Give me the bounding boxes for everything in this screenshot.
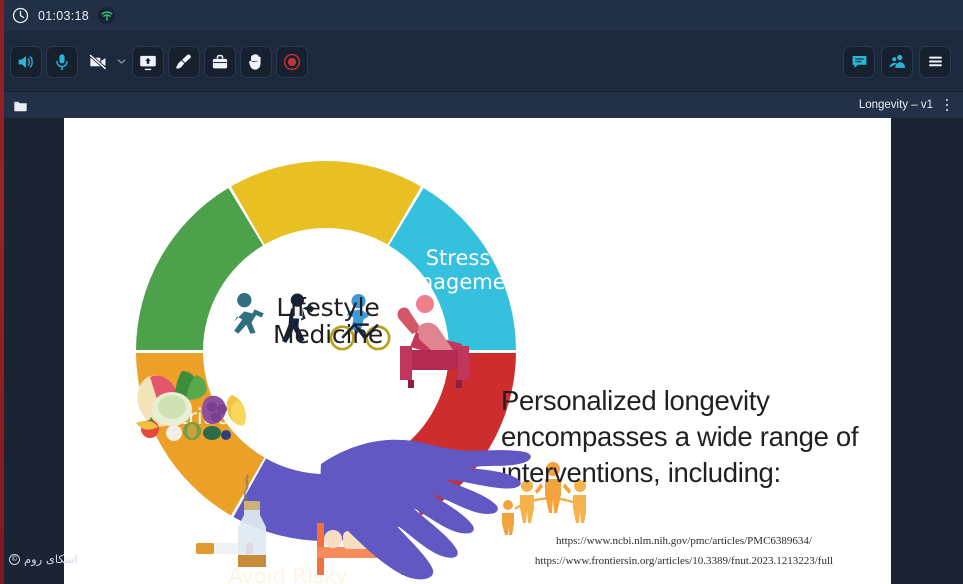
camera-control-group bbox=[82, 46, 128, 78]
chat-button[interactable] bbox=[843, 46, 875, 78]
meeting-toolbar bbox=[0, 31, 963, 92]
clock-icon bbox=[12, 7, 29, 24]
citation-link-1[interactable]: https://www.ncbi.nlm.nih.gov/pmc/article… bbox=[484, 531, 884, 551]
segment-exercise bbox=[231, 161, 421, 244]
app-watermark: اسکای روم © bbox=[9, 552, 78, 566]
segment-label-sleep: Sleep bbox=[435, 577, 493, 584]
slide-body-text: Personalized longevity encompasses a wid… bbox=[501, 383, 876, 490]
kebab-dot bbox=[946, 109, 949, 112]
menu-button[interactable] bbox=[919, 46, 951, 78]
chevron-down-icon[interactable] bbox=[114, 47, 128, 77]
kebab-dot bbox=[946, 104, 949, 107]
briefcase-button[interactable] bbox=[204, 46, 236, 78]
record-button[interactable] bbox=[276, 46, 308, 78]
wheel-center-line1: Lifestyle bbox=[228, 294, 428, 321]
slide-canvas[interactable]: Exercise Stress Management Social Suppor… bbox=[64, 118, 891, 584]
kebab-dot bbox=[946, 99, 949, 102]
share-screen-button[interactable] bbox=[132, 46, 164, 78]
session-timer: 01:03:18 bbox=[38, 9, 89, 23]
toolbar-left-group bbox=[10, 31, 308, 92]
wheel-center-label: Lifestyle Medicine bbox=[228, 294, 428, 348]
more-vertical-icon[interactable] bbox=[940, 95, 954, 115]
camera-off-button[interactable] bbox=[82, 46, 114, 78]
status-bar: 01:03:18 bbox=[0, 0, 963, 31]
presentation-stage: Exercise Stress Management Social Suppor… bbox=[4, 118, 963, 584]
segment-label-exercise: Exercise bbox=[279, 255, 366, 279]
document-tab-bar: Longevity – v1 bbox=[4, 92, 963, 118]
segment-label-stress-management-2: Management bbox=[389, 270, 527, 294]
toolbar-right-group bbox=[843, 31, 951, 92]
participants-button[interactable] bbox=[881, 46, 913, 78]
copyright-icon: © bbox=[9, 554, 20, 565]
citation-link-2[interactable]: https://www.frontiersin.org/articles/10.… bbox=[484, 551, 884, 571]
raise-hand-button[interactable] bbox=[240, 46, 272, 78]
folder-icon bbox=[13, 98, 28, 113]
lifestyle-medicine-wheel: Exercise Stress Management Social Suppor… bbox=[66, 118, 586, 584]
whiteboard-pen-button[interactable] bbox=[168, 46, 200, 78]
window-edge-strip bbox=[0, 0, 4, 584]
microphone-button[interactable] bbox=[46, 46, 78, 78]
document-title: Longevity – v1 bbox=[859, 99, 933, 111]
slide-citations: https://www.ncbi.nlm.nih.gov/pmc/article… bbox=[484, 531, 884, 572]
speaker-button[interactable] bbox=[10, 46, 42, 78]
watermark-text: اسکای روم bbox=[24, 552, 78, 566]
segment-label-stress-management: Stress bbox=[426, 246, 491, 270]
wifi-signal-icon bbox=[98, 7, 115, 24]
wheel-center-line2: Medicine bbox=[228, 321, 428, 348]
